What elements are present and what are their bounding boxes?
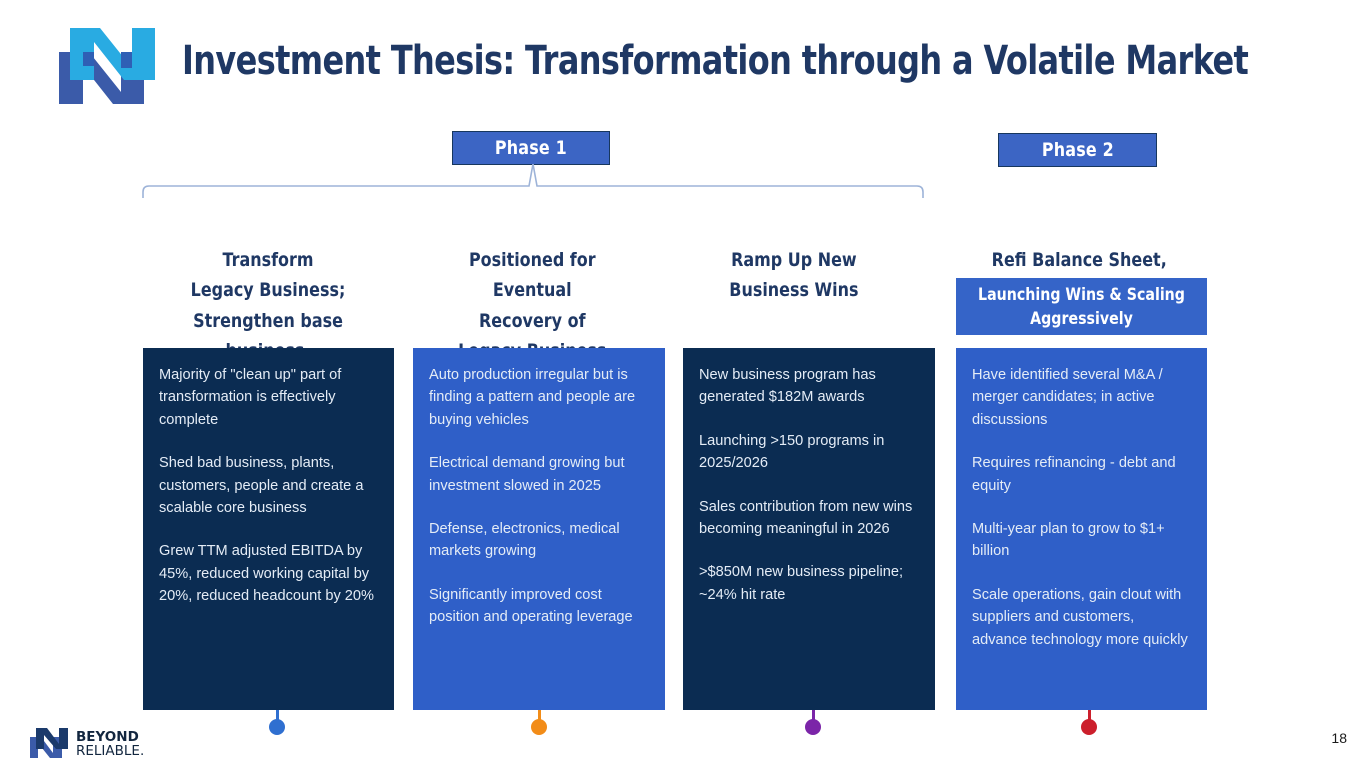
column-3-heading-text: Ramp Up New Business Wins xyxy=(729,245,858,306)
bullet-paragraph: Requires refinancing - debt and equity xyxy=(972,452,1191,497)
column-2-content-box: Auto production irregular but is finding… xyxy=(413,348,665,710)
bullet-paragraph: Defense, electronics, medical markets gr… xyxy=(429,518,649,563)
bullet-paragraph: Majority of "clean up" part of transform… xyxy=(159,364,378,431)
bullet-paragraph: Grew TTM adjusted EBITDA by 45%, reduced… xyxy=(159,540,378,607)
bullet-paragraph: Scale operations, gain clout with suppli… xyxy=(972,584,1191,651)
page-title: Investment Thesis: Transformation throug… xyxy=(182,34,1078,90)
column-4-content-box: Have identified several M&A / merger can… xyxy=(956,348,1207,710)
bullet-paragraph: Sales contribution from new wins becomin… xyxy=(699,496,919,541)
page-number: 18 xyxy=(1331,730,1347,746)
beyond-reliable-footer-logo: BEYOND RELIABLE. xyxy=(28,726,168,760)
column-1-content-box: Majority of "clean up" part of transform… xyxy=(143,348,394,710)
nn-monogram-logo-icon xyxy=(45,26,157,106)
phase-1-bracket xyxy=(140,164,926,198)
column-4-sub-banner-text: Launching Wins & Scaling Aggressively xyxy=(974,283,1190,331)
column-4-sub-banner: Launching Wins & Scaling Aggressively xyxy=(956,278,1207,335)
bullet-paragraph: Significantly improved cost position and… xyxy=(429,584,649,629)
svg-text:RELIABLE.: RELIABLE. xyxy=(76,743,144,759)
bullet-paragraph: Multi-year plan to grow to $1+ billion xyxy=(972,518,1191,563)
bullet-paragraph: Shed bad business, plants, customers, pe… xyxy=(159,452,378,519)
bullet-paragraph: Launching >150 programs in 2025/2026 xyxy=(699,430,919,475)
bullet-paragraph: Auto production irregular but is finding… xyxy=(429,364,649,431)
dot-marker-purple xyxy=(805,719,821,735)
bullet-paragraph: New business program has generated $182M… xyxy=(699,364,919,409)
phase-1-text: Phase 1 xyxy=(495,137,567,159)
phase-2-text: Phase 2 xyxy=(1041,139,1113,161)
column-3-content-box: New business program has generated $182M… xyxy=(683,348,935,710)
bullet-paragraph: Have identified several M&A / merger can… xyxy=(972,364,1191,431)
phase-2-label: Phase 2 xyxy=(998,133,1157,167)
slide-canvas: Investment Thesis: Transformation throug… xyxy=(0,0,1365,768)
bullet-paragraph: Electrical demand growing but investment… xyxy=(429,452,649,497)
dot-marker-blue xyxy=(269,719,285,735)
column-3-heading: Ramp Up New Business Wins xyxy=(676,214,912,306)
dot-marker-orange xyxy=(531,719,547,735)
bullet-paragraph: >$850M new business pipeline; ~24% hit r… xyxy=(699,561,919,606)
phase-1-label: Phase 1 xyxy=(452,131,610,165)
column-2-heading: Positioned for Eventual Recovery of Lega… xyxy=(409,214,655,367)
dot-marker-red xyxy=(1081,719,1097,735)
